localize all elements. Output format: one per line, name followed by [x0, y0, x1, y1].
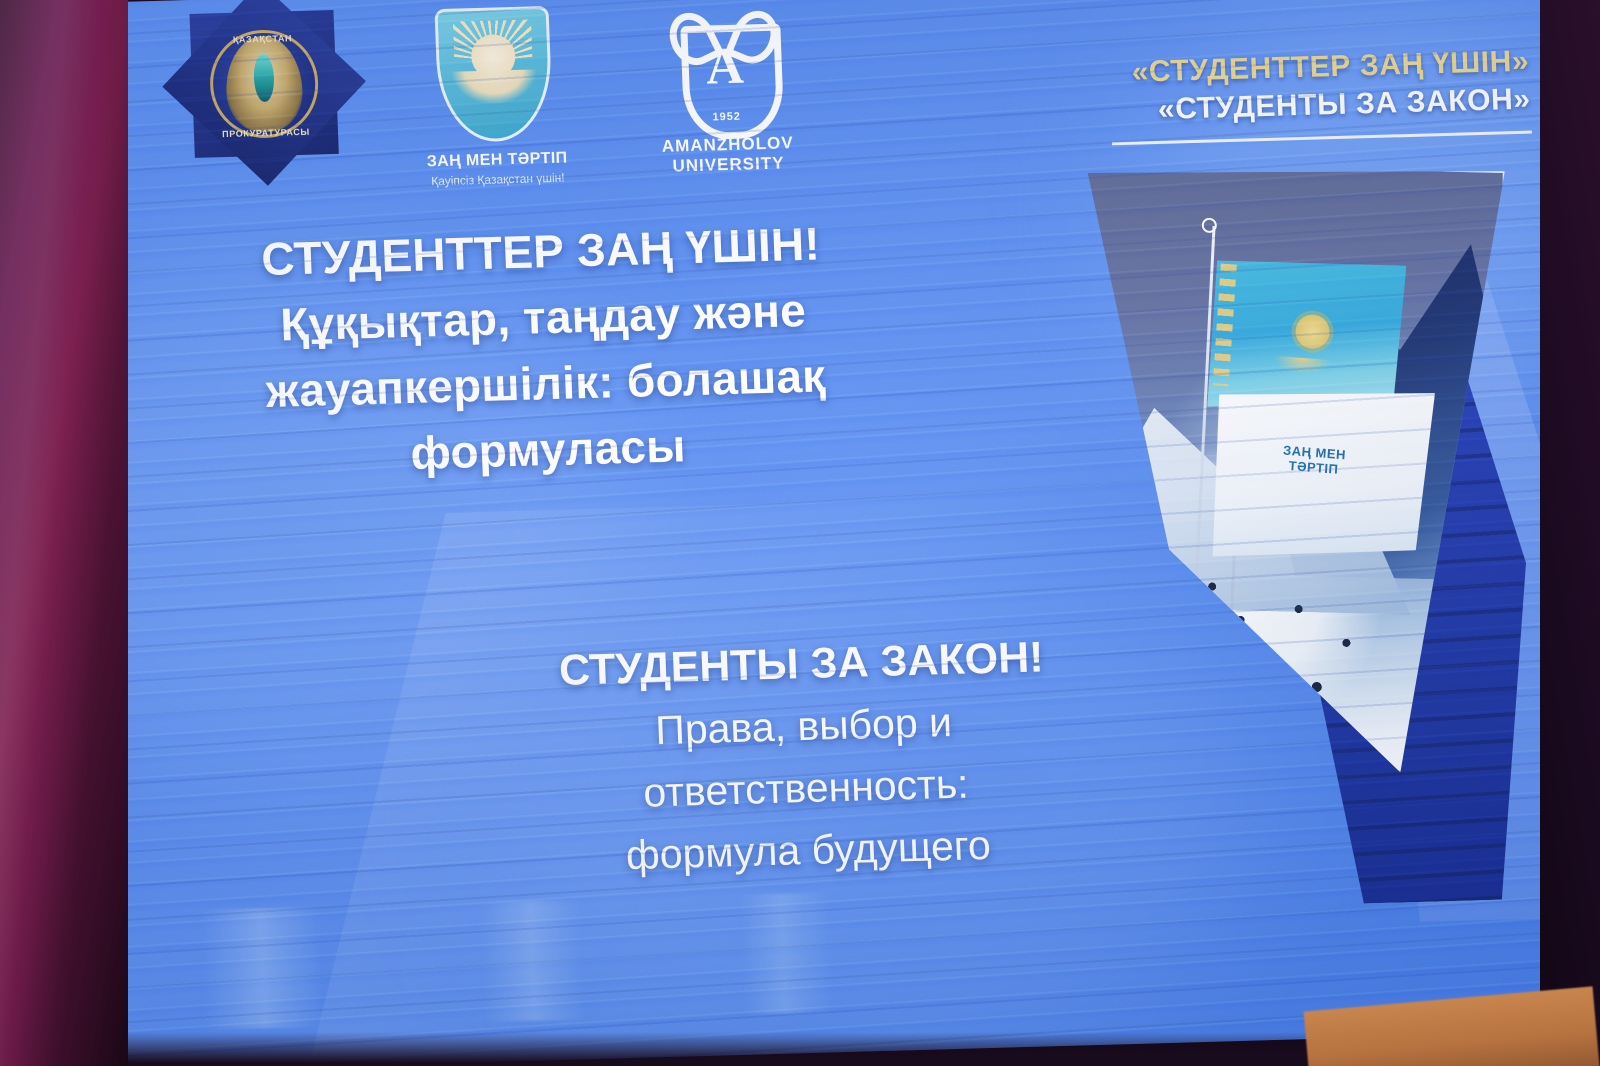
prosecutor-emblem: ҚАЗАҚСТАН ПРОКУРАТУРАСЫ: [166, 0, 362, 171]
tree-line: [1176, 549, 1420, 759]
shield-icon: [434, 6, 553, 143]
eagle-icon: [451, 69, 538, 105]
law-and-order-subtitle: Қауіпсіз Қазақстан үшін!: [403, 170, 593, 189]
kazakh-title-block: СТУДЕНТТЕР ЗАҢ ҮШІН! Құқықтар, таңдау жә…: [125, 207, 965, 494]
law-and-order-title: ЗАҢ МЕН ТӘРТІП: [402, 149, 593, 172]
law-and-order-flag: ЗАҢ МЕН ТӘРТІП: [1209, 377, 1436, 573]
flagpole-finial: [1202, 217, 1217, 232]
flag-caption: ЗАҢ МЕН ТӘРТІП: [1214, 438, 1413, 483]
law-and-order-logo: ЗАҢ МЕН ТӘРТІП Қауіпсіз Қазақстан үшін!: [396, 5, 593, 189]
russian-title-block: СТУДЕНТЫ ЗА ЗАКОН! Права, выбор и ответс…: [430, 623, 1179, 891]
flag-ornament-band: [1212, 264, 1236, 387]
curtain-right: [1540, 0, 1600, 1066]
university-logo: A 1952 AMANZHOLOV UNIVERSITY: [623, 14, 829, 177]
university-name-line2: UNIVERSITY: [628, 152, 829, 178]
slide-header: «СТУДЕНТТЕР ЗАҢ ҮШІН» «СТУДЕНТЫ ЗА ЗАКОН…: [969, 45, 1532, 150]
flag-sun-icon: [1295, 314, 1331, 350]
screenshot-stage: ҚАЗАҚСТАН ПРОКУРАТУРАСЫ ЗАҢ МЕН ТӘРТІП Қ…: [0, 0, 1600, 1066]
floor-shadow: [90, 1032, 1490, 1066]
flag-eagle-icon: [1274, 356, 1331, 376]
university-shield-icon: A 1952: [668, 16, 782, 131]
projection-screen: ҚАЗАҚСТАН ПРОКУРАТУРАСЫ ЗАҢ МЕН ТӘРТІП Қ…: [46, 0, 1600, 1066]
curtain-left: [0, 0, 128, 1066]
slide-surface: ҚАЗАҚСТАН ПРОКУРАТУРАСЫ ЗАҢ МЕН ТӘРТІП Қ…: [46, 0, 1600, 1066]
university-monogram: A: [669, 40, 781, 95]
logo-row: ҚАЗАҚСТАН ПРОКУРАТУРАСЫ ЗАҢ МЕН ТӘРТІП Қ…: [166, 0, 873, 203]
eight-pointed-star-icon: ҚАЗАҚСТАН ПРОКУРАТУРАСЫ: [177, 0, 351, 170]
